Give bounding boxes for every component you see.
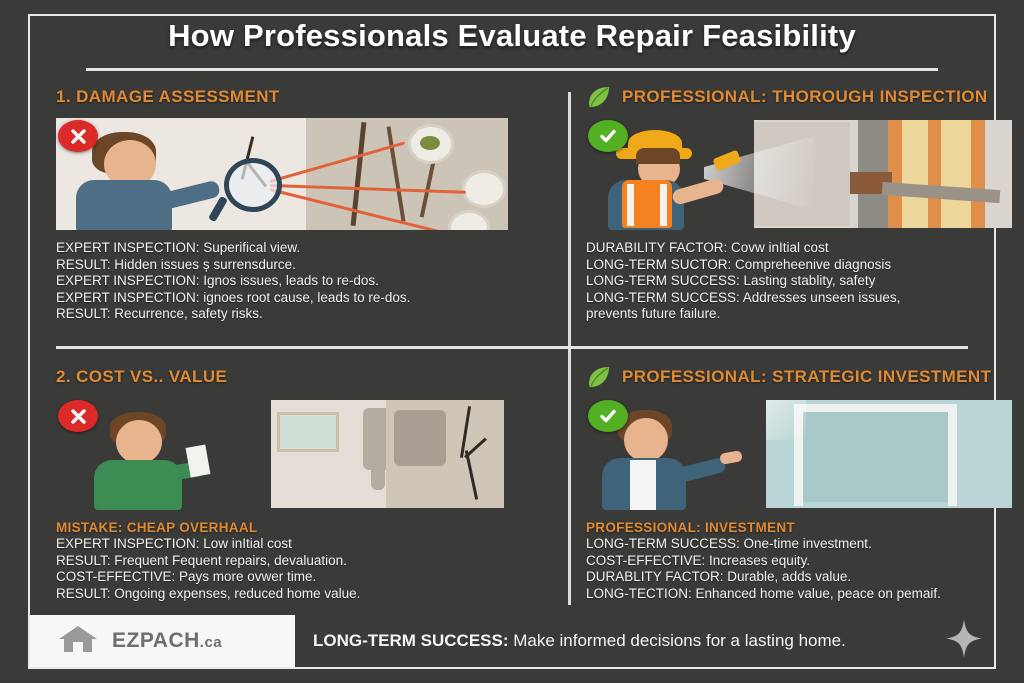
water-stain [371, 462, 385, 490]
red-x-icon [58, 400, 98, 432]
body-line: LONG-TERM SUCCESS: Lasting stablity, saf… [586, 273, 1012, 290]
mold-callout [462, 170, 506, 208]
wall-stud [971, 120, 985, 228]
content-grid: 1. DAMAGE ASSESSMENT [56, 84, 968, 609]
footer-tagline: LONG-TERM SUCCESS: Make informed decisio… [313, 631, 846, 651]
body-line: DURABLITY FACTOR: Durable, adds value. [586, 569, 1012, 586]
section-thorough-inspection: PROFESSIONAL: THOROUGH INSPECTION [586, 84, 1012, 323]
illustration-thorough-inspection [586, 118, 1012, 230]
body-line: LONG-TERM SUCCESS: One-time investment. [586, 536, 1012, 553]
section-body-lines: LONG-TERM SUCCESS: One-time investment. … [586, 536, 1012, 602]
section-header: PROFESSIONAL: THOROUGH INSPECTION [586, 84, 1012, 110]
section-subheading: MISTAKE: CHEAP OVERHAAL [56, 520, 508, 535]
section-heading: PROFESSIONAL: STRATEGIC INVESTMENT [622, 367, 991, 387]
vest-stripe [627, 184, 634, 226]
section-heading: 2. COST VS.. VALUE [56, 367, 227, 387]
body-line: EXPERT INSPECTION: Ignos issues, leads t… [56, 273, 508, 290]
section-header: 1. DAMAGE ASSESSMENT [56, 84, 508, 110]
crack-line [464, 438, 487, 459]
window-frame [794, 404, 957, 412]
page-title: How Professionals Evaluate Repair Feasib… [30, 18, 994, 54]
illustration-strategic-investment [586, 398, 1012, 510]
water-stain [394, 410, 446, 466]
vest-stripe [660, 184, 667, 226]
body-line: prevents future failure. [586, 306, 1012, 323]
glass-glare [766, 400, 806, 440]
footer-tagline-box: LONG-TERM SUCCESS: Make informed decisio… [295, 615, 994, 667]
section-subheading: PROFESSIONAL: INVESTMENT [586, 520, 1012, 535]
section-heading: 1. DAMAGE ASSESSMENT [56, 87, 280, 107]
section-body-lines: DURABILITY FACTOR: Covw inItial cost LON… [586, 240, 1012, 323]
section-heading: PROFESSIONAL: THOROUGH INSPECTION [622, 87, 988, 107]
scene-professional-inspection [586, 118, 1012, 230]
scene-cracked-wall-inspection [56, 118, 508, 230]
section-body-lines: EXPERT INSPECTION: Superifical view. RES… [56, 240, 508, 323]
window [277, 412, 339, 452]
green-check-icon [588, 400, 628, 432]
body-line: COST-EFFECTIVE: Pays more ovwer time. [56, 569, 508, 586]
body-line: COST-EFFECTIVE: Increases equity. [586, 553, 1012, 570]
wall-insulation [902, 120, 928, 228]
wall-stud [928, 120, 941, 228]
magnifying-glass-icon [224, 158, 282, 212]
section-cost-vs-value: 2. COST VS.. VALUE [56, 364, 508, 602]
section-damage-assessment: 1. DAMAGE ASSESSMENT [56, 84, 508, 323]
body-line: DURABILITY FACTOR: Covw inItial cost [586, 240, 1012, 257]
shirt [630, 460, 656, 510]
house-icon [56, 623, 100, 660]
infographic-poster: How Professionals Evaluate Repair Feasib… [0, 0, 1024, 683]
body-line: EXPERT INSPECTION: Low inItial cost [56, 536, 508, 553]
tagline-label: LONG-TERM SUCCESS: [313, 631, 509, 650]
pointing-hand-icon [719, 450, 743, 465]
title-divider [86, 68, 938, 71]
body-line: RESULT: Frequent Fequent repairs, devalu… [56, 553, 508, 570]
section-body-lines: EXPERT INSPECTION: Low inItial cost RESU… [56, 536, 508, 602]
mold-callout [408, 124, 454, 164]
body-line: LONG-TERM SUCCESS: Addresses unseen issu… [586, 290, 1012, 307]
section-header: 2. COST VS.. VALUE [56, 364, 508, 390]
green-check-icon [588, 120, 628, 152]
receipt-icon [186, 444, 211, 477]
body-line: EXPERT INSPECTION: ignoes root cause, le… [56, 290, 508, 307]
head [624, 418, 668, 462]
brand-logo[interactable]: EZPACH.ca [30, 615, 295, 667]
head [116, 420, 162, 464]
body-line: RESULT: Ongoing expenses, reduced home v… [56, 586, 508, 603]
scene-new-window [586, 398, 1012, 510]
sparkle-icon [944, 618, 984, 665]
logo-wordmark: EZPACH.ca [112, 629, 222, 653]
illustration-damage-assessment [56, 118, 508, 230]
body-line: LONG-TERM SUCTOR: Compreheenive diagnosi… [586, 257, 1012, 274]
leaf-icon [586, 364, 612, 390]
window-frame [948, 404, 957, 506]
footer: EZPACH.ca LONG-TERM SUCCESS: Make inform… [30, 615, 994, 667]
cracked-wall-photo [386, 400, 504, 508]
glass-pane [800, 406, 950, 502]
scene-worried-homeowner [56, 398, 508, 510]
wall-insulation [941, 120, 971, 228]
body-line: RESULT: Hidden issues ș surrensdurce. [56, 257, 508, 274]
arm [671, 177, 725, 206]
tagline-text: Make informed decisions for a lasting ho… [509, 631, 846, 650]
hair [636, 148, 680, 164]
illustration-cheap-overhaul [56, 398, 508, 510]
section-strategic-investment: PROFESSIONAL: STRATEGIC INVESTMENT [586, 364, 1012, 602]
body-line: LONG-TECTION: Enhanced home value, peace… [586, 586, 1012, 603]
body-line: RESULT: Recurrence, safety risks. [56, 306, 508, 323]
horizontal-divider [56, 346, 968, 349]
body-line: EXPERT INSPECTION: Superifical view. [56, 240, 508, 257]
red-x-icon [58, 120, 98, 152]
new-window-photo [766, 400, 1012, 508]
leaf-icon [586, 84, 612, 110]
section-header: PROFESSIONAL: STRATEGIC INVESTMENT [586, 364, 1012, 390]
